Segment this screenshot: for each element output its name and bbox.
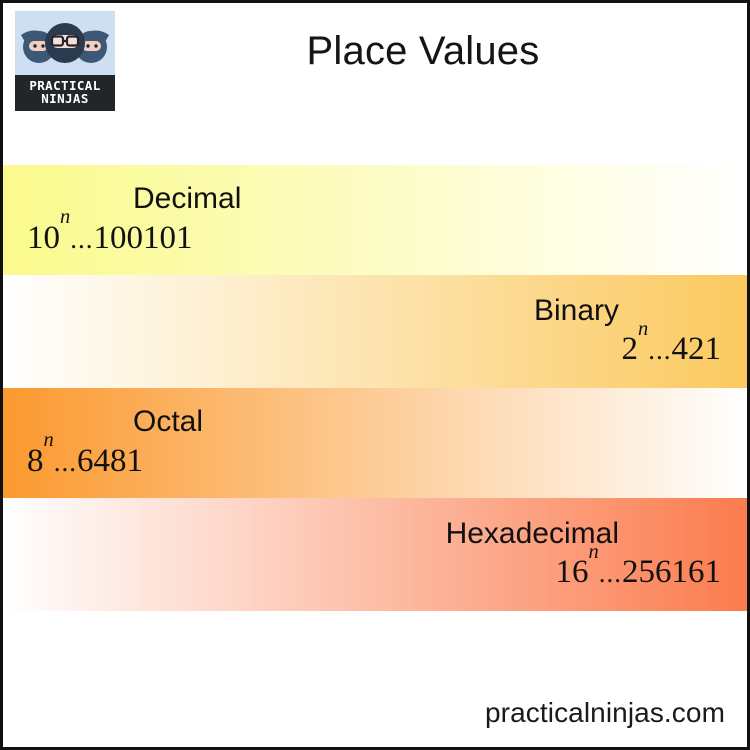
band-octal: Octal 8n...6481 bbox=[3, 388, 747, 498]
place-value: 1 bbox=[705, 553, 722, 592]
ninja-heads-icon bbox=[15, 11, 115, 75]
place-value: 16 bbox=[672, 553, 705, 592]
power-base: 2 bbox=[621, 331, 638, 367]
place-value: 256 bbox=[622, 553, 672, 592]
power-notation: 10n bbox=[27, 218, 70, 258]
place-value: 1 bbox=[127, 442, 144, 481]
power-base: 10 bbox=[27, 220, 60, 256]
power-base: 16 bbox=[555, 554, 588, 590]
band-decimal: Decimal 10n...100101 bbox=[3, 165, 747, 275]
place-value: 4 bbox=[672, 330, 689, 369]
place-value: 100 bbox=[94, 219, 144, 258]
power-base: 8 bbox=[27, 443, 44, 479]
ninja-center bbox=[45, 23, 85, 63]
ellipsis: ... bbox=[54, 447, 77, 479]
place-value: 8 bbox=[110, 442, 127, 481]
place-value: 2 bbox=[688, 330, 705, 369]
logo-text-line2: NINJAS bbox=[41, 93, 89, 106]
band-octal-values: 8n...6481 bbox=[21, 441, 729, 481]
place-value: 1 bbox=[176, 219, 193, 258]
power-exponent: n bbox=[638, 318, 648, 340]
page-title: Place Values bbox=[133, 29, 713, 74]
power-exponent: n bbox=[588, 541, 598, 563]
place-value: 1 bbox=[705, 330, 722, 369]
ellipsis: ... bbox=[648, 335, 671, 367]
header: PRACTICAL NINJAS Place Values bbox=[3, 3, 747, 127]
ellipsis: ... bbox=[70, 224, 93, 256]
ellipsis: ... bbox=[599, 558, 622, 590]
infographic-page: PRACTICAL NINJAS Place Values Decimal 10… bbox=[0, 0, 750, 750]
power-notation: 16n bbox=[555, 552, 598, 592]
power-notation: 8n bbox=[27, 441, 54, 481]
band-binary-label: Binary bbox=[21, 294, 729, 328]
power-exponent: n bbox=[44, 429, 54, 451]
power-exponent: n bbox=[60, 206, 70, 228]
band-decimal-label: Decimal bbox=[21, 182, 729, 216]
place-value: 64 bbox=[77, 442, 110, 481]
band-binary: Binary 2n...421 bbox=[3, 275, 747, 388]
website-url: practicalninjas.com bbox=[485, 697, 725, 729]
power-notation: 2n bbox=[621, 329, 648, 369]
place-value: 10 bbox=[143, 219, 176, 258]
practical-ninjas-logo: PRACTICAL NINJAS bbox=[15, 11, 115, 111]
band-hexadecimal-label: Hexadecimal bbox=[21, 517, 729, 551]
band-decimal-values: 10n...100101 bbox=[21, 218, 729, 258]
band-hexadecimal: Hexadecimal 16n...256161 bbox=[3, 498, 747, 611]
band-hexadecimal-values: 16n...256161 bbox=[21, 552, 729, 592]
logo-banner: PRACTICAL NINJAS bbox=[15, 75, 115, 111]
band-binary-values: 2n...421 bbox=[21, 329, 729, 369]
band-octal-label: Octal bbox=[21, 405, 729, 439]
